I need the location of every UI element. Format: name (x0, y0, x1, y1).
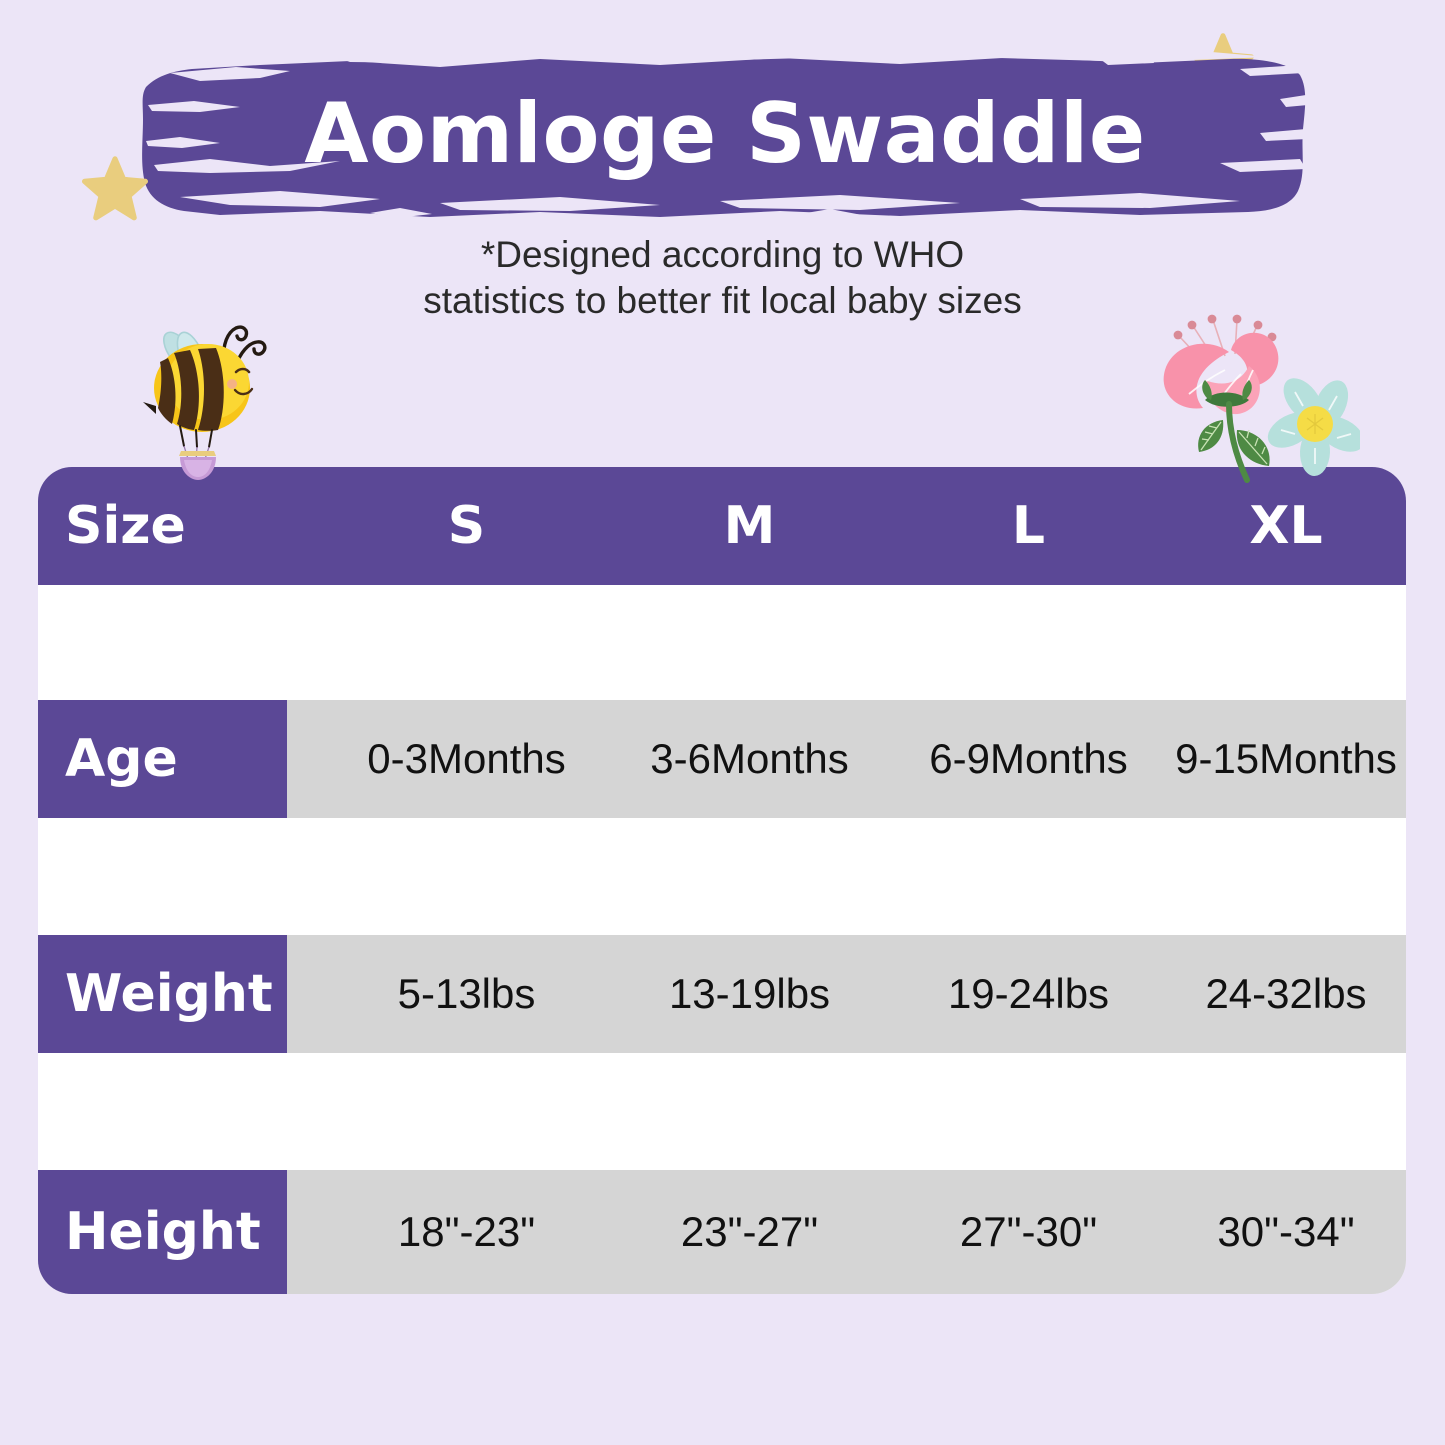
table-row: Weight 5-13lbs 13-19lbs 19-24lbs 24-32lb… (38, 935, 1406, 1053)
cell-age-l: 6-9Months (891, 700, 1166, 818)
cell-weight-s: 5-13lbs (325, 935, 608, 1053)
cell-age-xl: 9-15Months (1166, 700, 1406, 818)
page-title: Aomloge Swaddle (140, 45, 1310, 225)
row-label-text: Weight (65, 968, 273, 1020)
table-header-row: Size S M L XL (38, 467, 1406, 585)
table-row: Age 0-3Months 3-6Months 6-9Months 9-15Mo… (38, 700, 1406, 818)
row-label-weight: Weight (38, 935, 287, 1053)
cell-age-s: 0-3Months (325, 700, 608, 818)
cell-weight-l: 19-24lbs (891, 935, 1166, 1053)
header-cell-l: L (891, 467, 1166, 585)
table-row: Height 18"-23" 23"-27" 27"-30" 30"-34" (38, 1170, 1406, 1294)
row-label-text: Height (65, 1206, 261, 1258)
header-cell-xl: XL (1166, 467, 1406, 585)
row-label-height: Height (38, 1170, 287, 1294)
bee-illustration (136, 310, 286, 480)
cell-height-xl: 30"-34" (1166, 1170, 1406, 1294)
cell-height-m: 23"-27" (608, 1170, 891, 1294)
cell-height-l: 27"-30" (891, 1170, 1166, 1294)
cell-weight-xl: 24-32lbs (1166, 935, 1406, 1053)
header-cell-m: M (608, 467, 891, 585)
cell-height-s: 18"-23" (325, 1170, 608, 1294)
row-label-age: Age (38, 700, 287, 818)
row-label-text: Age (65, 733, 178, 785)
title-banner: Aomloge Swaddle (140, 45, 1310, 225)
size-chart-table: Size S M L XL Age 0-3Months 3-6Months 6-… (38, 467, 1406, 1294)
header-cell-s: S (325, 467, 608, 585)
cell-age-m: 3-6Months (608, 700, 891, 818)
subtitle-line-1: *Designed according to WHO (0, 232, 1445, 278)
star-icon (82, 155, 148, 221)
cell-weight-m: 13-19lbs (608, 935, 891, 1053)
header-cell-size: Size (38, 467, 287, 585)
flower-illustration (1145, 308, 1360, 483)
